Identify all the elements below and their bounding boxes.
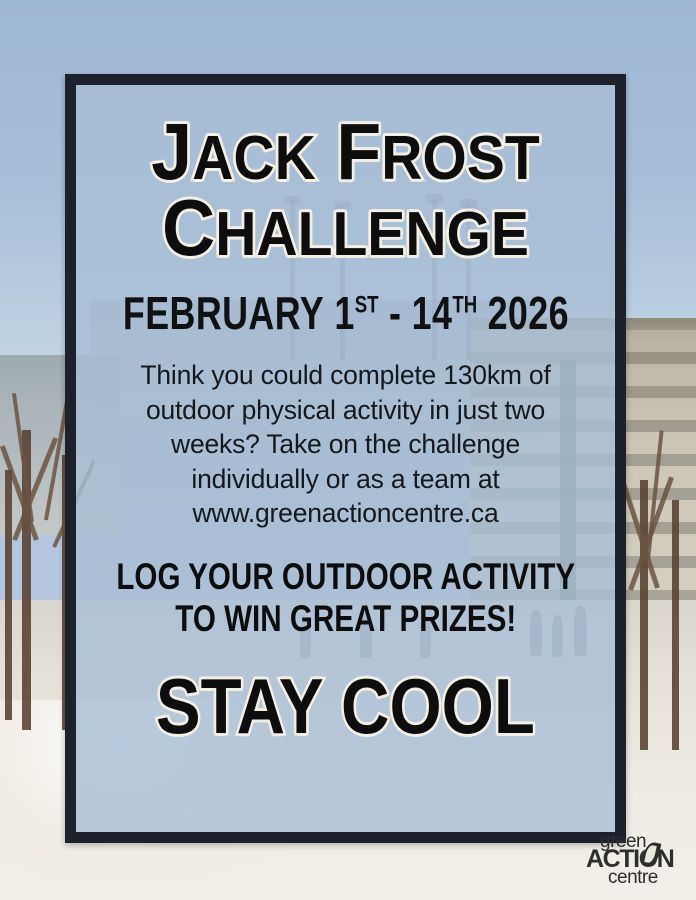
green-action-centre-logo: green ACTION centre xyxy=(586,832,682,888)
poster-frame: JACK FROST CHALLENGE FEBRUARY 1ST - 14TH… xyxy=(65,74,626,843)
title-cap-f: F xyxy=(336,107,381,196)
date-month: FEBRUARY xyxy=(122,287,323,339)
tree-trunk xyxy=(5,470,12,720)
slogan: STAY COOL xyxy=(156,667,535,745)
date-start-day: 1 xyxy=(334,287,354,339)
content-panel: JACK FROST CHALLENGE FEBRUARY 1ST - 14TH… xyxy=(76,85,615,832)
date-end-ordinal: TH xyxy=(452,292,477,319)
body-copy: Think you could complete 130km of outdoo… xyxy=(116,358,576,530)
title-block: JACK FROST CHALLENGE xyxy=(76,115,615,264)
call-to-action: LOG YOUR OUTDOOR ACTIVITY TO WIN GREAT P… xyxy=(116,556,575,639)
tree-trunk xyxy=(640,480,648,750)
poster-title-line-2: CHALLENGE xyxy=(98,191,594,265)
date-dash: - xyxy=(389,287,401,339)
date-end-day: 14 xyxy=(411,287,452,339)
poster-root: JACK FROST CHALLENGE FEBRUARY 1ST - 14TH… xyxy=(0,0,696,900)
title-cap-c: C xyxy=(162,183,215,272)
logo-text-centre: centre xyxy=(608,868,658,887)
date-year: 2026 xyxy=(487,287,568,339)
cta-line-1: LOG YOUR OUTDOOR ACTIVITY xyxy=(116,556,575,597)
date-start-ordinal: ST xyxy=(354,292,378,319)
poster-title-line-1: JACK FROST xyxy=(98,115,594,189)
cta-line-2: TO WIN GREAT PRIZES! xyxy=(116,598,575,639)
title-small-rost: ROST xyxy=(381,124,539,193)
title-small-hallenge: HALLENGE xyxy=(215,200,529,269)
tree-trunk xyxy=(672,500,679,750)
event-date: FEBRUARY 1ST - 14TH 2026 xyxy=(122,290,568,336)
